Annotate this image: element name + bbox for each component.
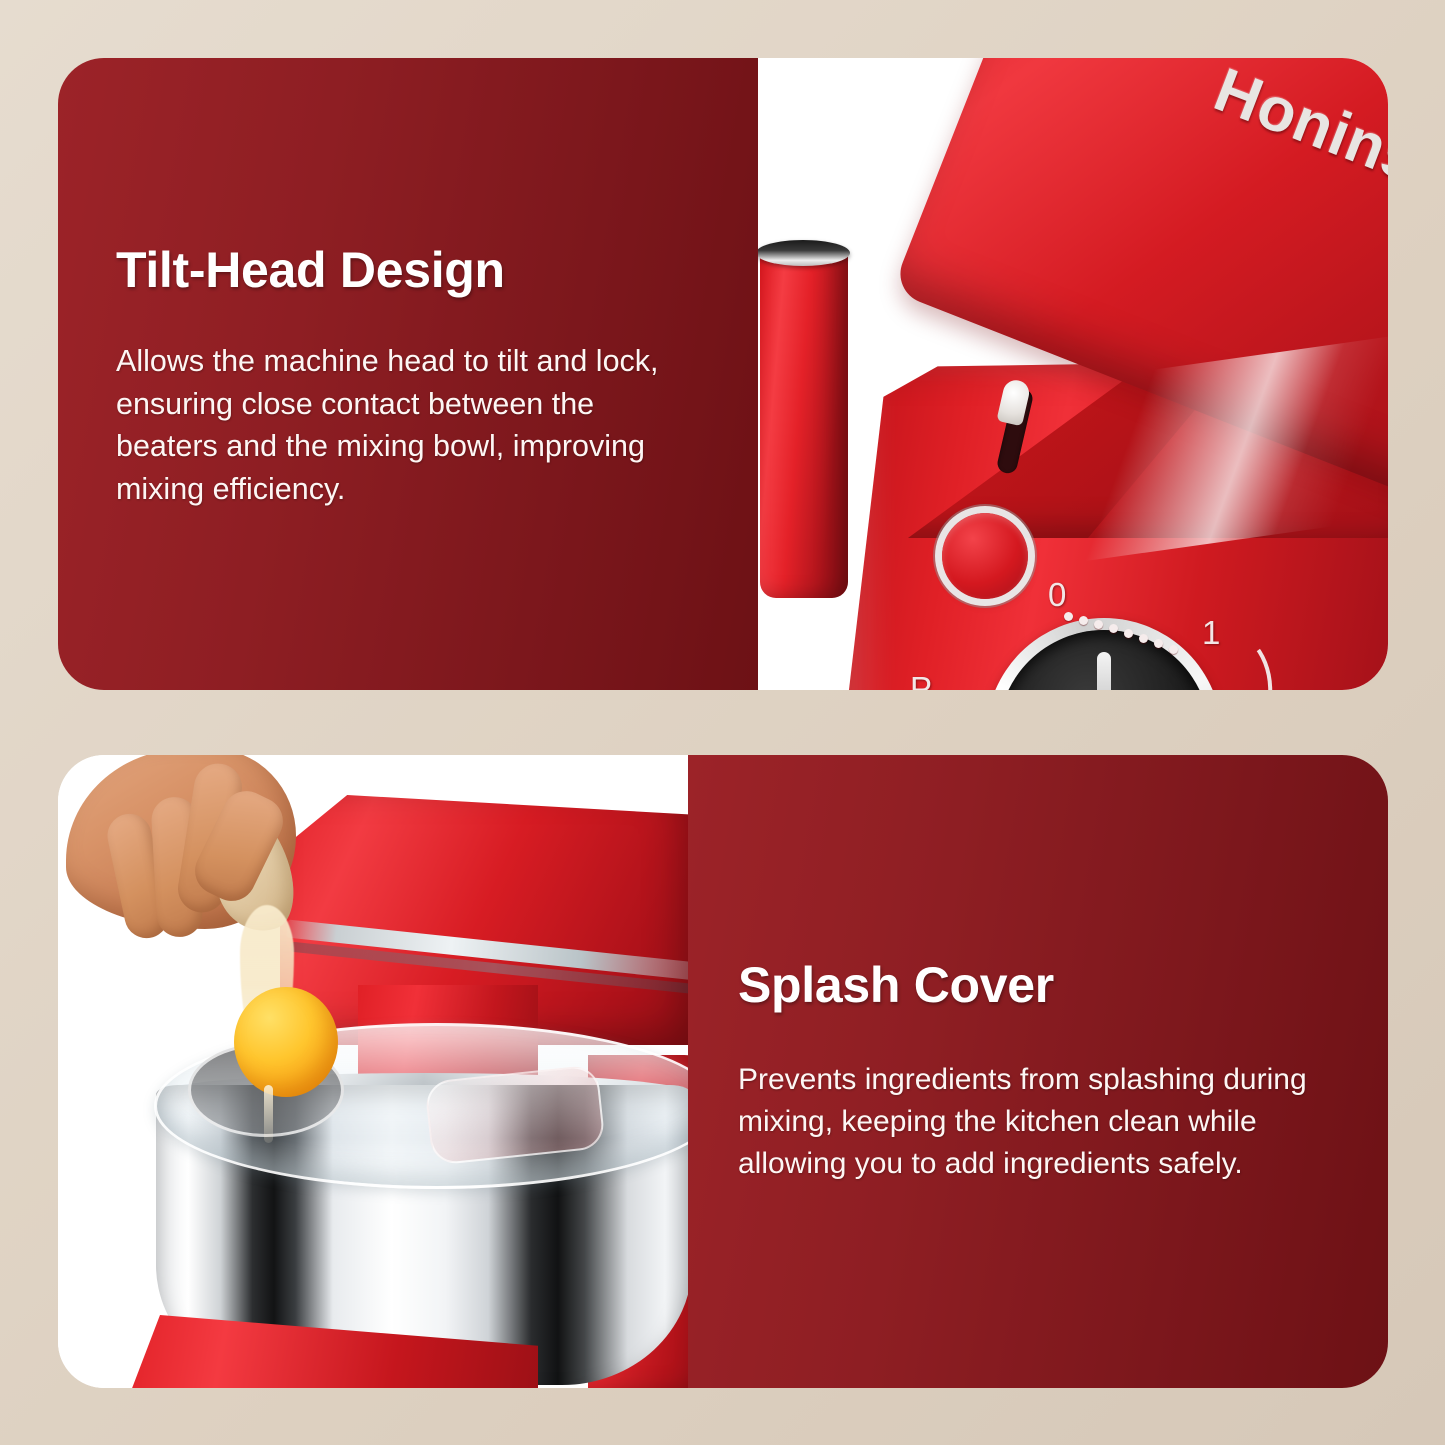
speed-label-pulse: P (910, 670, 932, 690)
feature-panel-tilt-head: Tilt-Head Design Allows the machine head… (58, 58, 1388, 690)
tilt-head-text-block: Tilt-Head Design Allows the machine head… (58, 58, 758, 690)
mixer-pitcher-shape (760, 248, 848, 598)
tilt-head-description: Allows the machine head to tilt and lock… (116, 340, 698, 510)
splash-cover-text-block: Splash Cover Prevents ingredients from s… (688, 755, 1388, 1388)
splash-cover-description: Prevents ingredients from splashing duri… (738, 1059, 1332, 1184)
egg-yolk-icon (234, 987, 338, 1097)
tilt-head-title: Tilt-Head Design (116, 244, 698, 297)
egg-pour-illustration (58, 755, 688, 1388)
egg-drip (264, 1085, 273, 1143)
speed-label-zero: 0 (1048, 576, 1066, 614)
feature-panel-splash-cover: Splash Cover Prevents ingredients from s… (58, 755, 1388, 1388)
mixer-head-illustration: Honinst (758, 58, 1388, 690)
mixer-pitcher-rim (758, 240, 850, 266)
splash-cover-photo (58, 755, 688, 1388)
tilt-release-button[interactable] (942, 513, 1028, 599)
tilt-head-photo: Honinst (758, 58, 1388, 690)
infographic-page: Tilt-Head Design Allows the machine head… (0, 0, 1445, 1445)
speed-label-one: 1 (1202, 614, 1220, 652)
splash-cover-title: Splash Cover (738, 959, 1332, 1012)
speed-dial-group[interactable]: P 0 1 2 (986, 618, 1286, 690)
